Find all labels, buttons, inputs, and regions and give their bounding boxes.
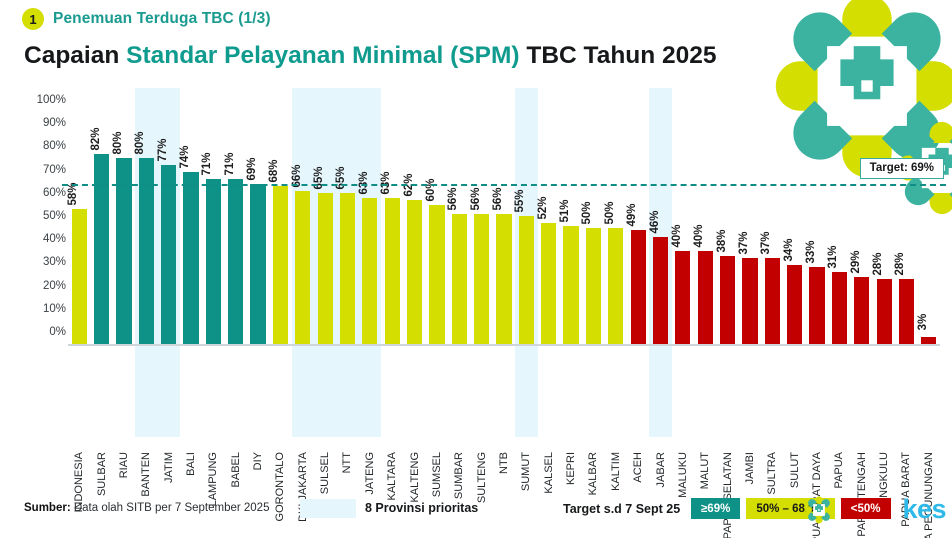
bar-cell: 29% [851, 112, 873, 344]
bar-cell: 71% [202, 112, 224, 344]
x-tick-label: KALTENG [409, 452, 421, 503]
bar-value-label: 46% [649, 211, 661, 234]
bar-cell: 50% [582, 112, 604, 344]
bar-value-label: 56% [447, 188, 459, 211]
bar[interactable]: 74% [183, 172, 198, 344]
bar-cell: 66% [292, 112, 314, 344]
bar[interactable]: 37% [742, 258, 757, 344]
bar-value-label: 56% [470, 188, 482, 211]
bar[interactable]: 49% [631, 230, 646, 344]
bar[interactable]: 63% [362, 198, 377, 344]
bar[interactable]: 71% [228, 179, 243, 344]
bar-cell: 37% [761, 112, 783, 344]
bar-cell: 3% [918, 112, 940, 344]
bar-value-label: 77% [157, 139, 169, 162]
header-kicker: 1 Penemuan Terduga TBC (1/3) [22, 8, 271, 30]
bar-value-label: 63% [380, 171, 392, 194]
bar-cell: 50% [605, 112, 627, 344]
bar-cell: 34% [784, 112, 806, 344]
x-tick-label: KALBAR [587, 452, 599, 495]
x-tick-label: DIY [252, 452, 264, 470]
bar[interactable]: 40% [698, 251, 713, 344]
bar[interactable]: 33% [809, 267, 824, 344]
x-tick-label: ACEH [632, 452, 644, 483]
bar-cell: 80% [113, 112, 135, 344]
bar-cell: 31% [828, 112, 850, 344]
bar-cell: 40% [672, 112, 694, 344]
source-label: Sumber: [24, 502, 71, 514]
bar-cell: 40% [694, 112, 716, 344]
x-tick-label: JATENG [364, 452, 376, 495]
bar-value-label: 80% [134, 132, 146, 155]
bar[interactable]: 29% [854, 277, 869, 344]
bar-cell: 69% [247, 112, 269, 344]
bar-value-label: 80% [112, 132, 124, 155]
bar-value-label: 49% [626, 204, 638, 227]
bar-value-label: 40% [693, 225, 705, 248]
bar[interactable]: 62% [407, 200, 422, 344]
bar-cell: 28% [873, 112, 895, 344]
bar[interactable]: 65% [318, 193, 333, 344]
bar-value-label: 52% [537, 197, 549, 220]
x-tick-label: SUMSEL [431, 452, 443, 497]
bar-cell: 63% [359, 112, 381, 344]
x-tick-label: KALSEL [543, 452, 555, 494]
y-tick-label: 60% [22, 187, 66, 199]
page-title-part2: Standar Pelayanan Minimal (SPM) [126, 42, 519, 69]
y-tick-label: 20% [22, 280, 66, 292]
bar-series: 58%82%80%80%77%74%71%71%69%68%66%65%65%6… [68, 112, 940, 344]
bar[interactable]: 56% [496, 214, 511, 344]
bar-value-label: 28% [872, 253, 884, 276]
bar[interactable]: 77% [161, 165, 176, 344]
bar-cell: 28% [895, 112, 917, 344]
source-note: Sumber: Data olah SITB per 7 September 2… [24, 502, 269, 514]
bar-value-label: 56% [492, 188, 504, 211]
bar-cell: 82% [90, 112, 112, 344]
x-tick-label: SULBAR [96, 452, 108, 496]
plot-area: 58%82%80%80%77%74%71%71%69%68%66%65%65%6… [68, 112, 940, 344]
bar-value-label: 51% [559, 199, 571, 222]
bar[interactable]: 58% [72, 209, 87, 344]
bar-value-label: 28% [894, 253, 906, 276]
bar-cell: 38% [716, 112, 738, 344]
bar[interactable]: 52% [541, 223, 556, 344]
bar-value-label: 63% [358, 171, 370, 194]
bar-cell: 51% [560, 112, 582, 344]
x-tick-label: BALI [185, 452, 197, 476]
x-tick-label: BANTEN [140, 452, 152, 497]
brand-text: kes [902, 494, 946, 525]
spm-tbc-bar-chart: 0%10%20%30%40%50%60%70%80%90%100% 58%82%… [0, 100, 952, 350]
x-tick-label: PAPUA [833, 452, 845, 488]
bar-value-label: 31% [827, 246, 839, 269]
y-tick-label: 40% [22, 233, 66, 245]
x-tick-label: NTT [341, 452, 353, 473]
bar[interactable]: 38% [720, 256, 735, 344]
target-threshold-line [62, 184, 946, 186]
bar[interactable]: 37% [765, 258, 780, 344]
y-tick-label: 10% [22, 303, 66, 315]
kicker-number-badge: 1 [22, 8, 44, 30]
bar-value-label: 65% [313, 167, 325, 190]
y-tick-label: 80% [22, 140, 66, 152]
x-tick-label: JABAR [655, 452, 667, 487]
bar[interactable]: 55% [519, 216, 534, 344]
bar-value-label: 55% [514, 190, 526, 213]
bar-cell: 80% [135, 112, 157, 344]
bar[interactable]: 60% [429, 205, 444, 344]
bar-value-label: 65% [335, 167, 347, 190]
bar[interactable]: 63% [385, 198, 400, 344]
bar[interactable]: 66% [295, 191, 310, 344]
bar-value-label: 69% [246, 157, 258, 180]
bar-value-label: 60% [425, 178, 437, 201]
bar-cell: 60% [426, 112, 448, 344]
bar-cell: 62% [403, 112, 425, 344]
bar[interactable]: 56% [474, 214, 489, 344]
bar-cell: 68% [269, 112, 291, 344]
legend-item: <50% [841, 498, 891, 519]
page-title-part1: Capaian [24, 42, 126, 69]
bar-value-label: 33% [805, 241, 817, 264]
bar[interactable]: 51% [563, 226, 578, 344]
target-badge: Target: 69% [860, 158, 944, 179]
y-tick-label: 100% [22, 94, 66, 106]
bar[interactable]: 34% [787, 265, 802, 344]
kicker-label: Penemuan Terduga TBC (1/3) [53, 10, 271, 28]
x-tick-label: KALTIM [610, 452, 622, 491]
y-tick-label: 50% [22, 210, 66, 222]
bar[interactable]: 46% [653, 237, 668, 344]
x-tick-label: MALUKU [677, 452, 689, 498]
bar[interactable]: 31% [832, 272, 847, 344]
bar-value-label: 71% [224, 153, 236, 176]
bar[interactable]: 28% [899, 279, 914, 344]
x-axis-line [68, 344, 940, 346]
x-tick-label: JAMBI [744, 452, 756, 484]
bar-cell: 55% [515, 112, 537, 344]
bar-cell: 46% [649, 112, 671, 344]
x-tick-label: NTB [498, 452, 510, 474]
kemenkes-brand-mark-icon [804, 496, 834, 524]
y-tick-label: 90% [22, 117, 66, 129]
bar-cell: 58% [68, 112, 90, 344]
bar[interactable]: 50% [608, 228, 623, 344]
bar-value-label: 58% [67, 183, 79, 206]
x-tick-label: RIAU [118, 452, 130, 478]
bar-value-label: 37% [760, 232, 772, 255]
bar-cell: 63% [381, 112, 403, 344]
bar-value-label: 37% [738, 232, 750, 255]
legend-item: ≥69% [691, 498, 740, 519]
x-tick-label: JATIM [163, 452, 175, 483]
y-tick-label: 0% [22, 326, 66, 338]
bar[interactable]: 56% [452, 214, 467, 344]
x-tick-label: KEPRI [565, 452, 577, 485]
bar-value-label: 29% [850, 250, 862, 273]
bar[interactable]: 40% [675, 251, 690, 344]
bar[interactable]: 71% [206, 179, 221, 344]
bar-cell: 77% [157, 112, 179, 344]
bar-cell: 65% [336, 112, 358, 344]
x-tick-label: SUMBAR [453, 452, 465, 499]
bar-value-label: 38% [716, 229, 728, 252]
bar-cell: 56% [448, 112, 470, 344]
bar-value-label: 68% [268, 160, 280, 183]
y-tick-label: 70% [22, 164, 66, 176]
bar[interactable]: 82% [94, 154, 109, 344]
bar-value-label: 34% [783, 239, 795, 262]
x-tick-label: MALUT [699, 452, 711, 489]
bar-value-label: 50% [604, 201, 616, 224]
bar-cell: 37% [739, 112, 761, 344]
priority-legend-label: 8 Provinsi prioritas [365, 501, 478, 515]
bar-value-label: 50% [581, 201, 593, 224]
y-tick-label: 30% [22, 256, 66, 268]
bar[interactable]: 68% [273, 186, 288, 344]
bar-cell: 49% [627, 112, 649, 344]
bar[interactable]: 28% [877, 279, 892, 344]
bar[interactable]: 80% [139, 158, 154, 344]
target-legend-label: Target s.d 7 Sept 25 [563, 502, 680, 516]
x-tick-label: KALTARA [386, 452, 398, 501]
bar[interactable]: 3% [921, 337, 936, 344]
color-legend: ≥69%50% – 68.9%<50% [691, 498, 891, 519]
bar-cell: 33% [806, 112, 828, 344]
x-tick-label: BABEL [230, 452, 242, 487]
bar-cell: 74% [180, 112, 202, 344]
priority-swatch [300, 499, 356, 518]
page-title-part3: TBC Tahun 2025 [520, 42, 717, 69]
x-tick-label: SULSEL [319, 452, 331, 494]
bar-cell: 56% [493, 112, 515, 344]
bar[interactable]: 50% [586, 228, 601, 344]
chart-footer: Sumber: Data olah SITB per 7 September 2… [0, 496, 952, 538]
source-text: Data olah SITB per 7 September 2025 [71, 502, 270, 514]
bar-cell: 56% [470, 112, 492, 344]
bar-value-label: 71% [201, 153, 213, 176]
bar-cell: 71% [225, 112, 247, 344]
x-tick-label: SUMUT [520, 452, 532, 491]
x-tick-label: SULUT [789, 452, 801, 488]
bar[interactable]: 69% [250, 184, 265, 344]
bar[interactable]: 65% [340, 193, 355, 344]
bar-value-label: 74% [179, 146, 191, 169]
y-axis-ticks: 0%10%20%30%40%50%60%70%80%90%100% [22, 100, 66, 332]
bar-cell: 52% [538, 112, 560, 344]
x-tick-label: SULTRA [766, 452, 778, 495]
page-title: Capaian Standar Pelayanan Minimal (SPM) … [24, 42, 717, 70]
bar-cell: 65% [314, 112, 336, 344]
bar[interactable]: 80% [116, 158, 131, 344]
bar-value-label: 40% [671, 225, 683, 248]
bar-value-label: 3% [917, 314, 929, 331]
bar-value-label: 82% [90, 127, 102, 150]
